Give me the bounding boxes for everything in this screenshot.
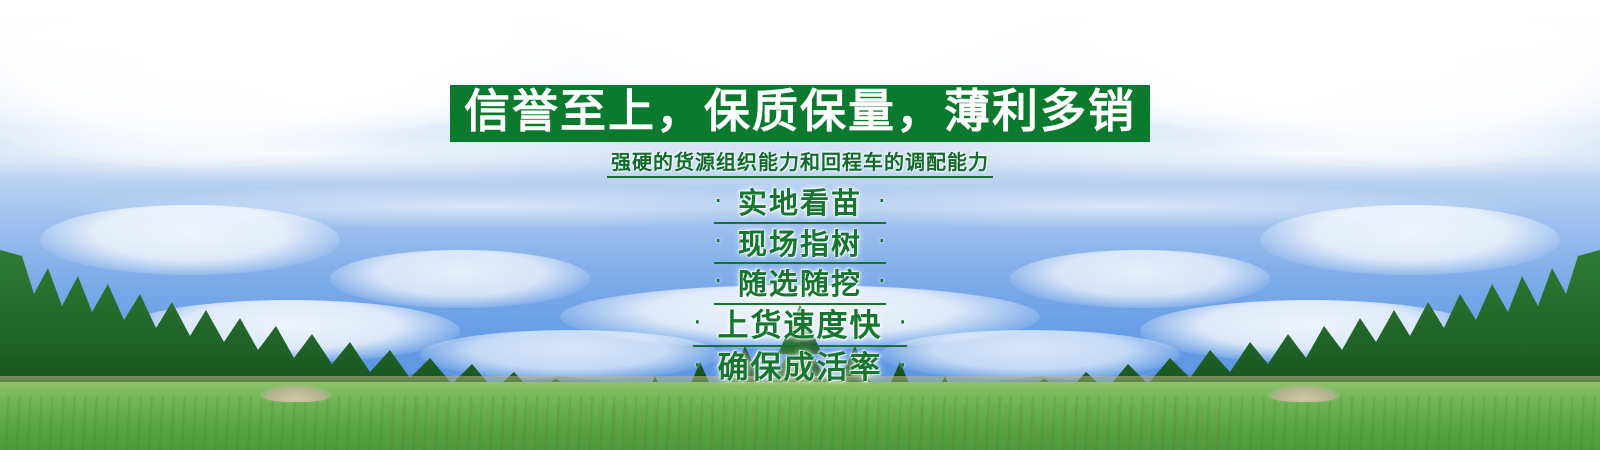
bullet-dot-icon: · (714, 269, 722, 293)
subtitle-text: 强硬的货源组织能力和回程车的调配能力 (607, 151, 993, 178)
feature-item-2: · 现场指树 · (714, 227, 885, 264)
bullet-dot-icon: · (714, 229, 722, 253)
feature-label: 现场指树 (738, 228, 862, 260)
bullet-dot-icon: · (878, 229, 886, 253)
promo-banner: 信誉至上，保质保量，薄利多销 强硬的货源组织能力和回程车的调配能力 · 实地看苗… (0, 0, 1600, 450)
feature-label: 随选随挖 (738, 268, 862, 300)
feature-label: 上货速度快 (718, 309, 883, 344)
feature-label: 实地看苗 (738, 187, 862, 219)
bullet-dot-icon: · (714, 189, 722, 213)
feature-list: · 实地看苗 · · 现场指树 · · 随选随挖 · · 上货速度快 · · (693, 186, 907, 391)
feature-item-1: · 实地看苗 · (714, 186, 885, 223)
banner-content: 信誉至上，保质保量，薄利多销 强硬的货源组织能力和回程车的调配能力 · 实地看苗… (0, 0, 1600, 450)
bullet-dot-icon: · (899, 310, 907, 336)
bullet-dot-icon: · (899, 353, 907, 379)
bullet-dot-icon: · (693, 310, 701, 336)
feature-label: 确保成活率 (718, 351, 883, 386)
feature-item-3: · 随选随挖 · (714, 267, 885, 304)
feature-item-4: · 上货速度快 · (693, 308, 907, 348)
bullet-dot-icon: · (693, 353, 701, 379)
headline-bar: 信誉至上，保质保量，薄利多销 (450, 85, 1150, 142)
bullet-dot-icon: · (878, 189, 886, 213)
headline-text: 信誉至上，保质保量，薄利多销 (464, 87, 1136, 135)
bullet-dot-icon: · (878, 269, 886, 293)
feature-item-5: · 确保成活率 · (693, 350, 907, 388)
